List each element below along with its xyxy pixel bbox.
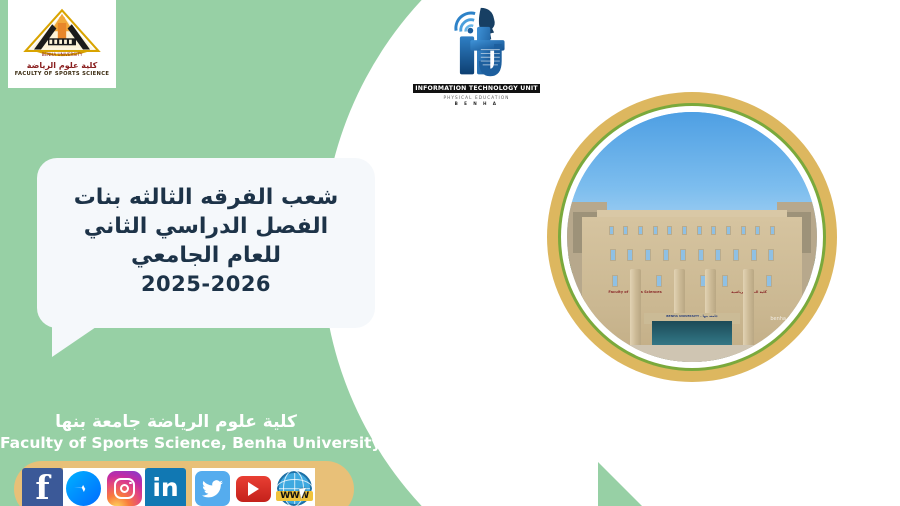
- footer-english-title: Faculty of Sports Science, Benha Univers…: [0, 434, 352, 452]
- building-photo-white-ring: Faculty of Sports Sciences كلية التربية …: [561, 106, 823, 368]
- announcement-line-2: الفصل الدراسي الثاني: [84, 212, 328, 241]
- benha-university-emblem-icon: BENHA UNIVERSITY: [20, 4, 104, 60]
- it-logo-line-3: B E N H A: [455, 101, 499, 106]
- faculty-building-photo: Faculty of Sports Sciences كلية التربية …: [567, 112, 817, 362]
- facebook-icon: f: [22, 468, 63, 506]
- emblem-caption: BENHA UNIVERSITY: [42, 52, 83, 57]
- green-corner-wedge: [598, 462, 642, 506]
- linkedin-link[interactable]: in: [145, 468, 186, 506]
- announcement-academic-year: 2025-2026: [141, 271, 271, 299]
- speech-bubble-tail: [52, 327, 96, 357]
- instagram-link[interactable]: [104, 468, 145, 506]
- announcement-speech-bubble: شعب الفرقه الثالثه بنات الفصل الدراسي ال…: [37, 158, 375, 328]
- messenger-icon: [66, 471, 101, 506]
- it-logo-line-1: INFORMATION TECHNOLOGY UNIT: [413, 84, 540, 93]
- building-photo-gold-ring: Faculty of Sports Sciences كلية التربية …: [547, 92, 837, 382]
- youtube-icon: [236, 476, 271, 502]
- twitter-link[interactable]: [192, 468, 233, 506]
- footer-arabic-title: كلية علوم الرياضة جامعة بنها: [0, 412, 352, 432]
- poster-canvas: BENHA UNIVERSITY كلية علوم الرياضة FACUL…: [0, 0, 900, 506]
- instagram-icon: [107, 471, 142, 506]
- social-links-row: f in: [22, 468, 315, 506]
- it-logo-line-2: PHYSICAL EDUCATION: [444, 95, 510, 100]
- twitter-icon: [195, 471, 230, 506]
- messenger-link[interactable]: [63, 468, 104, 506]
- building-photo-green-ring: Faculty of Sports Sciences كلية التربية …: [558, 103, 826, 371]
- announcement-line-1: شعب الفرقه الثالثه بنات: [74, 183, 339, 212]
- building-facade: Faculty of Sports Sciences كلية التربية …: [582, 217, 802, 362]
- announcement-line-3: للعام الجامعي: [131, 241, 281, 270]
- photo-watermark: benha.edu: [770, 316, 797, 322]
- building-sign-middle: BENHA UNIVERSITY - جامعة بنها: [666, 314, 717, 318]
- linkedin-icon: in: [145, 468, 186, 506]
- facebook-link[interactable]: f: [22, 468, 63, 506]
- plaza-ground: [567, 345, 817, 363]
- it-unit-logo: INFORMATION TECHNOLOGY UNIT PHYSICAL EDU…: [434, 0, 519, 108]
- youtube-link[interactable]: [233, 468, 274, 506]
- it-monogram-icon: [439, 2, 515, 84]
- university-logo: BENHA UNIVERSITY كلية علوم الرياضة FACUL…: [8, 0, 116, 88]
- university-logo-arabic-label: كلية علوم الرياضة: [27, 61, 98, 70]
- university-logo-english-label: FACULTY OF SPORTS SCIENCE: [15, 71, 110, 77]
